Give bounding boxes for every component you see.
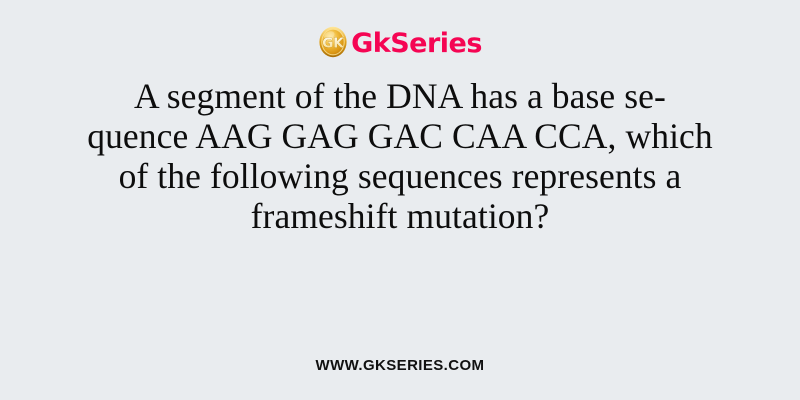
question-text: A segment of the DNA has a base se- quen… (87, 76, 713, 236)
brand-logo[interactable]: GK GkSeries (318, 22, 482, 62)
question-line-2: quence AAG GAG GAC CAA CCA, which (87, 116, 713, 156)
question-container: A segment of the DNA has a base se- quen… (50, 76, 750, 236)
brand-wordmark: GkSeries (351, 30, 482, 57)
question-line-3: of the following sequences represents a (87, 156, 713, 196)
footer: WWW.GKSERIES.COM (0, 357, 800, 375)
question-line-4: frameshift mutation? (87, 196, 713, 236)
slide-canvas: GK GkSeries A segment of the DNA has a b… (0, 0, 800, 400)
svg-text:GK: GK (322, 35, 344, 51)
footer-website-url[interactable]: WWW.GKSERIES.COM (316, 357, 485, 374)
question-line-1: A segment of the DNA has a base se- (87, 76, 713, 116)
gkseries-coin-logo-icon: GK (318, 26, 348, 58)
